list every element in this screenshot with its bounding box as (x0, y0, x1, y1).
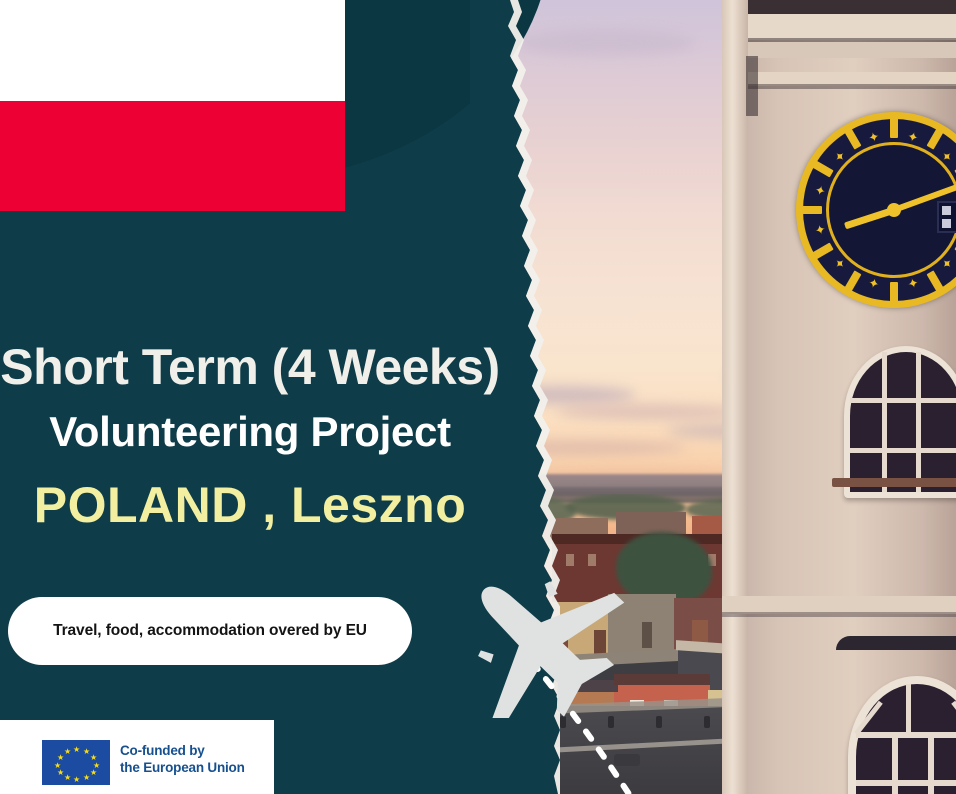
clock-numeral (802, 206, 822, 214)
eu-funding-line-2: the European Union (120, 759, 245, 776)
arched-window (844, 346, 956, 498)
clock-window (937, 201, 956, 233)
location-title: POLAND , Leszno (0, 476, 500, 534)
page-title: Short Term (4 Weeks) (0, 338, 506, 396)
eu-star-icon: ★ (54, 762, 61, 770)
clock-numeral (890, 118, 898, 138)
eu-star-icon: ★ (73, 776, 80, 784)
eu-funding-line-1: Co-funded by (120, 742, 245, 759)
clock-numeral (890, 282, 898, 302)
eu-star-icon: ★ (57, 769, 64, 777)
benefits-badge: Travel, food, accommodation overed by EU (8, 597, 412, 665)
cornice (722, 14, 956, 40)
eu-star-icon: ★ (64, 748, 71, 756)
cloud (556, 404, 746, 420)
benefits-badge-label: Travel, food, accommodation overed by EU (53, 622, 367, 640)
eu-star-icon: ★ (90, 769, 97, 777)
window-sill (832, 478, 956, 487)
chimney (642, 622, 652, 648)
clock-face: ✦ ✦ ✦ ✦ ✦ ✦ ✦ ✦ ✦ ✦ ✦ ✦ (796, 112, 956, 308)
eu-funding-text: Co-funded by the European Union (120, 742, 245, 777)
eu-flag: ★ ★ ★ ★ ★ ★ ★ ★ ★ ★ ★ ★ (42, 740, 110, 785)
clock-inner-face (826, 142, 956, 278)
window-arch-trim (836, 636, 956, 650)
airplane-icon (440, 558, 640, 718)
eu-star-icon: ★ (83, 774, 90, 782)
eu-star-icon: ★ (73, 746, 80, 754)
polish-flag (0, 0, 345, 211)
flag-red-band (0, 101, 345, 211)
cornice-trim (722, 612, 956, 617)
flag-white-band (0, 0, 345, 101)
eu-star-icon: ★ (64, 774, 71, 782)
clock-hub (887, 203, 901, 217)
promotional-poster: ✦ ✦ ✦ ✦ ✦ ✦ ✦ ✦ ✦ ✦ ✦ ✦ (0, 0, 956, 794)
subtitle: Volunteering Project (0, 408, 500, 456)
pilaster-shadow (746, 56, 758, 116)
